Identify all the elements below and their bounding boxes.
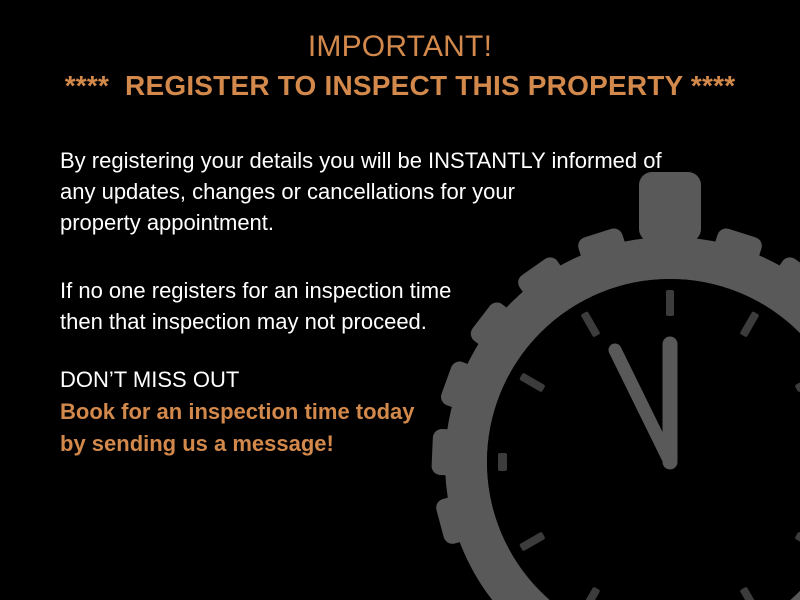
- body-paragraph-no-one-registers: If no one registers for an inspection ti…: [60, 275, 720, 337]
- body-block: By registering your details you will be …: [60, 145, 720, 337]
- cta-dont-miss-out: DON’T MISS OUT: [60, 364, 560, 396]
- page-title-important: IMPORTANT!: [0, 28, 800, 66]
- slide-canvas: IMPORTANT! **** REGISTER TO INSPECT THIS…: [0, 0, 800, 600]
- page-title-register: **** REGISTER TO INSPECT THIS PROPERTY *…: [0, 66, 800, 106]
- body-paragraph-registering: By registering your details you will be …: [60, 145, 720, 238]
- slide-text-content: IMPORTANT! **** REGISTER TO INSPECT THIS…: [0, 0, 800, 600]
- call-to-action-block: DON’T MISS OUT Book for an inspection ti…: [60, 364, 560, 460]
- heading-block: IMPORTANT! **** REGISTER TO INSPECT THIS…: [0, 28, 800, 106]
- cta-send-message: by sending us a message!: [60, 428, 560, 460]
- cta-book-inspection: Book for an inspection time today: [60, 396, 560, 428]
